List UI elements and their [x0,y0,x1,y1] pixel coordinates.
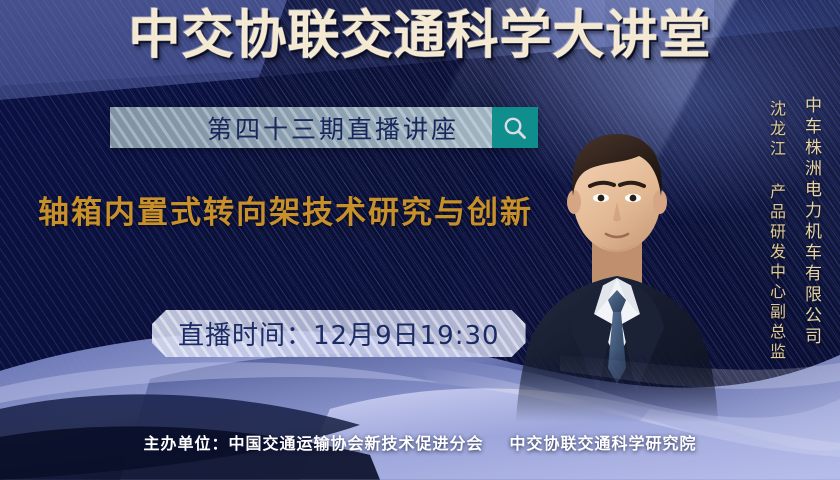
page-title: 中交协联交通科学大讲堂 [0,10,840,62]
issue-banner-label: 第四十三期直播讲座 [143,110,459,146]
speaker-portrait [512,92,722,422]
live-lecture-poster: 中交协联交通科学大讲堂 第四十三期直播讲座 轴箱内置式转向架技术研究与创新 直播… [0,0,840,480]
issue-banner: 第四十三期直播讲座 [110,107,538,148]
live-time-badge: 直播时间：12月9日19:30 [152,310,526,357]
search-icon-tile [492,107,538,148]
sponsor-line: 主办单位：中国交通运输协会新技术促进分会中交协联交通科学研究院 [0,430,840,454]
speaker-company: 中车株洲电力机车有限公司 [799,96,824,348]
sponsor-org-1: 中国交通运输协会新技术促进分会 [228,434,483,453]
live-time-label: 直播时间：12月9日19:30 [178,315,500,352]
speaker-name-role: 沈龙江 产品研发中心副总监 [764,100,788,363]
sponsor-prefix: 主办单位： [143,434,228,453]
issue-banner-bar: 第四十三期直播讲座 [110,107,492,148]
lecture-title: 轴箱内置式转向架技术研究与创新 [38,196,533,230]
sponsor-org-2: 中交协联交通科学研究院 [510,434,697,453]
search-icon [502,115,528,141]
